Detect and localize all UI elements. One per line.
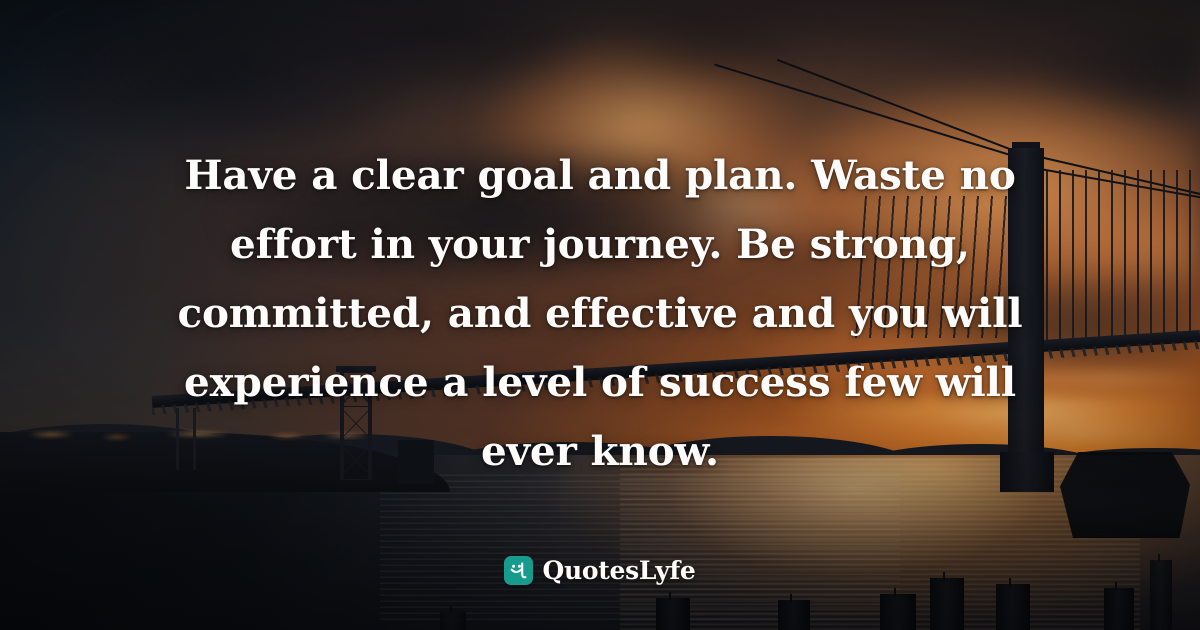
quote-smiley-icon xyxy=(504,556,533,585)
brand-name: QuotesLyfe xyxy=(542,556,695,585)
quote-content: Have a clear goal and plan. Waste no eff… xyxy=(0,0,1200,630)
quote-text: Have a clear goal and plan. Waste no eff… xyxy=(135,141,1065,486)
quote-card: Have a clear goal and plan. Waste no eff… xyxy=(0,0,1200,630)
brand-watermark: QuotesLyfe xyxy=(0,556,1200,585)
